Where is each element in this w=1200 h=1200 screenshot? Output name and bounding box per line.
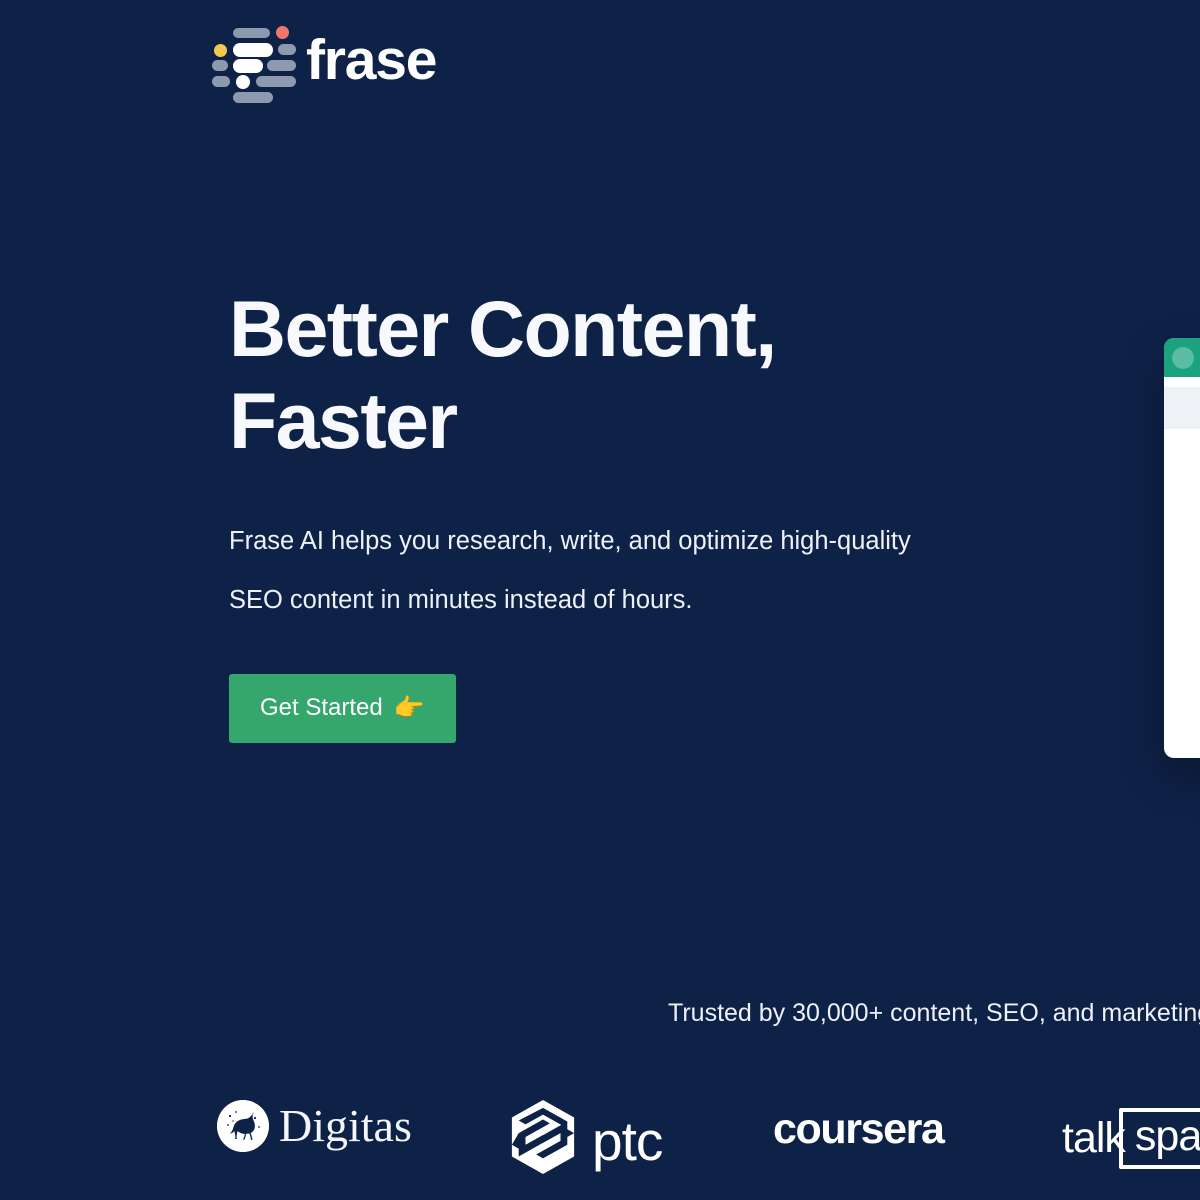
- logo-coursera-wordmark: coursera: [773, 1108, 943, 1151]
- hero-section: Better Content, Faster Frase AI helps yo…: [229, 283, 989, 743]
- speech-bubble-outline: spa: [1119, 1108, 1200, 1169]
- logo-ptc[interactable]: ptc: [508, 1098, 662, 1181]
- frase-app-preview-card[interactable]: [1164, 338, 1200, 758]
- app-card-body: [1164, 377, 1200, 429]
- get-started-button[interactable]: Get Started 👉: [229, 674, 456, 743]
- trusted-by-text: Trusted by 30,000+ content, SEO, and mar…: [668, 999, 1200, 1028]
- logo-talkspace-wordmark-b: spa: [1135, 1112, 1200, 1160]
- logo-ptc-wordmark: ptc: [592, 1114, 662, 1169]
- brand-logo[interactable]: frase: [212, 22, 436, 94]
- logo-talkspace-wordmark-a: talk: [1062, 1117, 1125, 1160]
- pointing-right-hand-emoji: 👉: [394, 696, 425, 721]
- app-card-placeholder-block: [1164, 387, 1200, 429]
- chat-bubble-icon: [1172, 347, 1194, 369]
- logo-digitas[interactable]: Digitas: [217, 1100, 412, 1152]
- brand-name: frase: [306, 32, 436, 89]
- get-started-label: Get Started: [260, 694, 383, 722]
- page-title: Better Content, Faster: [229, 283, 989, 468]
- landing-page-hero: frase Better Content, Faster Frase AI he…: [0, 0, 1200, 1200]
- logo-digitas-wordmark: Digitas: [279, 1103, 412, 1149]
- frase-bars-logo-icon: [212, 22, 284, 94]
- logo-talkspace[interactable]: talk spa: [1062, 1108, 1200, 1169]
- unicorn-circle-icon: [217, 1100, 269, 1152]
- app-card-header: [1164, 338, 1200, 377]
- hero-subheading: Frase AI helps you research, write, and …: [229, 512, 951, 631]
- logo-coursera[interactable]: coursera: [773, 1108, 943, 1151]
- hexagon-icon: [508, 1098, 578, 1181]
- customer-logo-strip: Digitas ptc coursera talk spa: [0, 1094, 1200, 1180]
